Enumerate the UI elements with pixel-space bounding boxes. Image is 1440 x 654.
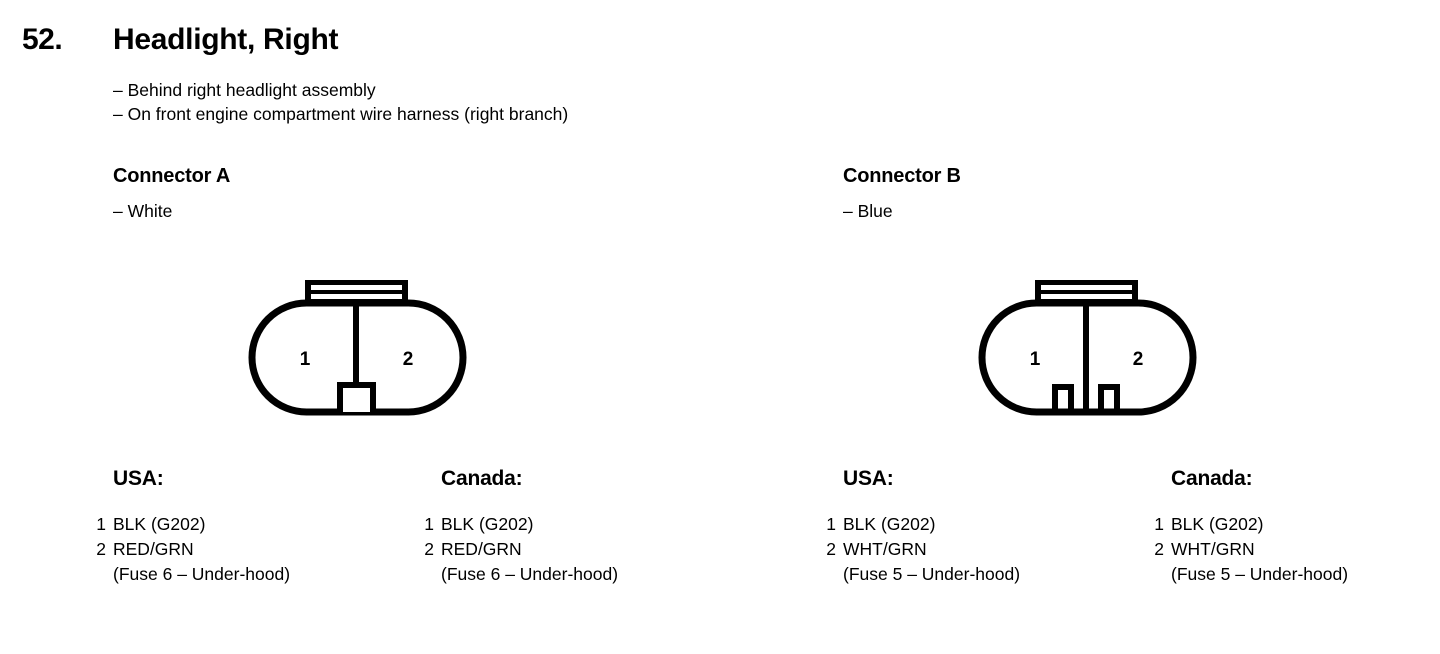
connector-a-pin-1-label: 1 (300, 349, 311, 370)
pin-source-note: (Fuse 6 – Under-hood) (441, 562, 753, 587)
pin-number: 2 (815, 537, 843, 562)
pin-row: 2 WHT/GRN (815, 537, 1155, 562)
pin-row: 2 RED/GRN (85, 537, 425, 562)
pin-number: 1 (815, 512, 843, 537)
connector-b-pin-2-label: 2 (1133, 349, 1144, 370)
pin-number: 1 (1143, 512, 1171, 537)
pin-wire: WHT/GRN (843, 537, 1155, 562)
pin-wire: BLK (G202) (441, 512, 753, 537)
region-title-canada: Canada: (1171, 468, 1252, 489)
connector-b-heading: Connector B (843, 166, 961, 186)
pin-row: 1 BLK (G202) (85, 512, 425, 537)
connector-a-heading: Connector A (113, 166, 230, 186)
region-title-usa: USA: (113, 468, 164, 489)
connector-block-b: Connector B – Blue 1 2 USA: 1 (730, 0, 1430, 654)
pin-source-note: (Fuse 6 – Under-hood) (113, 562, 425, 587)
connector-block-a: Connector A – White 1 2 USA: 1 BLK (0, 0, 700, 654)
connector-a-color-label: – White (113, 203, 172, 221)
pin-source-note: (Fuse 5 – Under-hood) (1171, 562, 1440, 587)
connector-b-usa-pin-list: 1 BLK (G202) 2 WHT/GRN (Fuse 5 – Under-h… (815, 512, 1155, 587)
pin-number: 2 (85, 537, 113, 562)
pin-wire: RED/GRN (441, 537, 753, 562)
region-title-canada: Canada: (441, 468, 522, 489)
pin-number: 2 (413, 537, 441, 562)
connector-b-canada-pin-list: 1 BLK (G202) 2 WHT/GRN (Fuse 5 – Under-h… (1143, 512, 1440, 587)
pin-row: 1 BLK (G202) (1143, 512, 1440, 537)
pin-wire: BLK (G202) (843, 512, 1155, 537)
connector-b-pin-1-label: 1 (1030, 349, 1041, 370)
pin-row: 1 BLK (G202) (815, 512, 1155, 537)
pin-wire: BLK (G202) (113, 512, 425, 537)
connector-b-diagram: 1 2 (970, 268, 1202, 423)
pin-row: 2 WHT/GRN (1143, 537, 1440, 562)
pin-row: 2 RED/GRN (413, 537, 753, 562)
pin-wire: BLK (G202) (1171, 512, 1440, 537)
connector-a-canada-pin-list: 1 BLK (G202) 2 RED/GRN (Fuse 6 – Under-h… (413, 512, 753, 587)
connector-a-diagram: 1 2 (240, 268, 472, 423)
pin-number: 2 (1143, 537, 1171, 562)
region-title-usa: USA: (843, 468, 894, 489)
connector-a-pin-2-label: 2 (403, 349, 414, 370)
connector-a-usa-pin-list: 1 BLK (G202) 2 RED/GRN (Fuse 6 – Under-h… (85, 512, 425, 587)
pin-source-note: (Fuse 5 – Under-hood) (843, 562, 1155, 587)
pin-number: 1 (413, 512, 441, 537)
pin-number: 1 (85, 512, 113, 537)
pin-row: 1 BLK (G202) (413, 512, 753, 537)
pin-wire: WHT/GRN (1171, 537, 1440, 562)
pin-wire: RED/GRN (113, 537, 425, 562)
connector-b-color-label: – Blue (843, 203, 893, 221)
